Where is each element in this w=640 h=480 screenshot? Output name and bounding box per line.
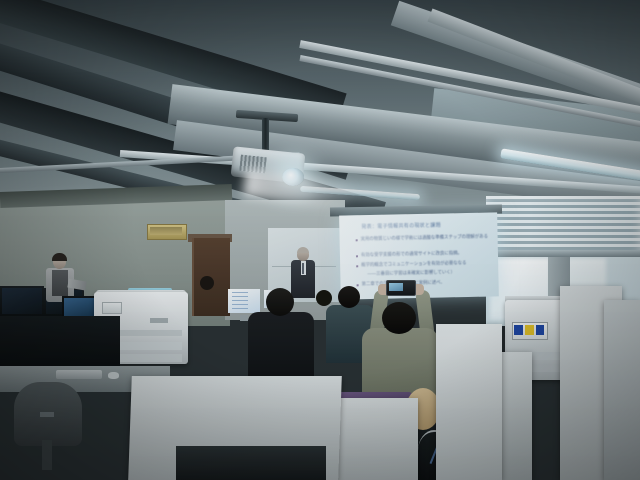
monitor-stand <box>240 315 248 321</box>
desk-row <box>0 316 120 368</box>
attendee-head <box>200 276 214 290</box>
classroom-presentation-photograph: 発表：電子情報共有の現状と課題 実用の物質じいの様で学術には過酸な準備ステップの… <box>0 0 640 480</box>
monitor-window-content <box>232 292 248 310</box>
attendee-photographer-head <box>382 302 416 334</box>
camera-screen <box>389 283 403 291</box>
printer-control-panel[interactable] <box>102 302 122 314</box>
door-plaque-inner <box>150 227 182 235</box>
desk-shadow-gap <box>176 446 326 480</box>
slide-bullet-marker <box>356 239 358 241</box>
slide-bullet: 概学的概念でコミュニケーションを有効が必要ななる <box>361 260 466 269</box>
printer-logo <box>150 318 168 323</box>
slide-bullet-marker <box>356 255 358 257</box>
slide-bullet: 有効な受学支援の形での通常サイトに改良に指摘。 <box>361 250 462 259</box>
attendee-head <box>316 290 332 306</box>
slide-bullet-marker <box>357 284 359 286</box>
keyboard[interactable] <box>56 370 102 379</box>
attendee-head <box>338 286 360 308</box>
slide-bullet: ――三番目に学習は未確実に影響していく） <box>367 269 455 277</box>
printer-panel-label <box>525 325 534 335</box>
monitor-screen-off <box>2 288 42 314</box>
standing-staff-hair <box>52 253 67 261</box>
slide-bullet-marker <box>356 265 358 267</box>
slide-title: 発表：電子情報共有の現状と課題 <box>361 221 489 231</box>
projector-mount-pole <box>262 118 269 152</box>
chair-label <box>40 412 54 417</box>
presenter-hair <box>297 247 309 253</box>
desk-divider <box>436 324 502 480</box>
printer-panel-label <box>514 325 523 335</box>
standing-staff-vest <box>52 270 68 296</box>
chair-stem <box>42 440 52 470</box>
desk-divider <box>604 300 640 480</box>
venetian-blinds[interactable] <box>486 196 640 256</box>
printer-panel-label <box>536 325 544 335</box>
slide-bullet: 実用の物質じいの様で学術には過酸な準備ステップの理解がある <box>361 233 491 242</box>
mouse[interactable] <box>108 372 119 379</box>
blinds-rail <box>486 250 640 257</box>
attendee-head <box>266 288 294 316</box>
presenter-tie <box>302 263 304 274</box>
